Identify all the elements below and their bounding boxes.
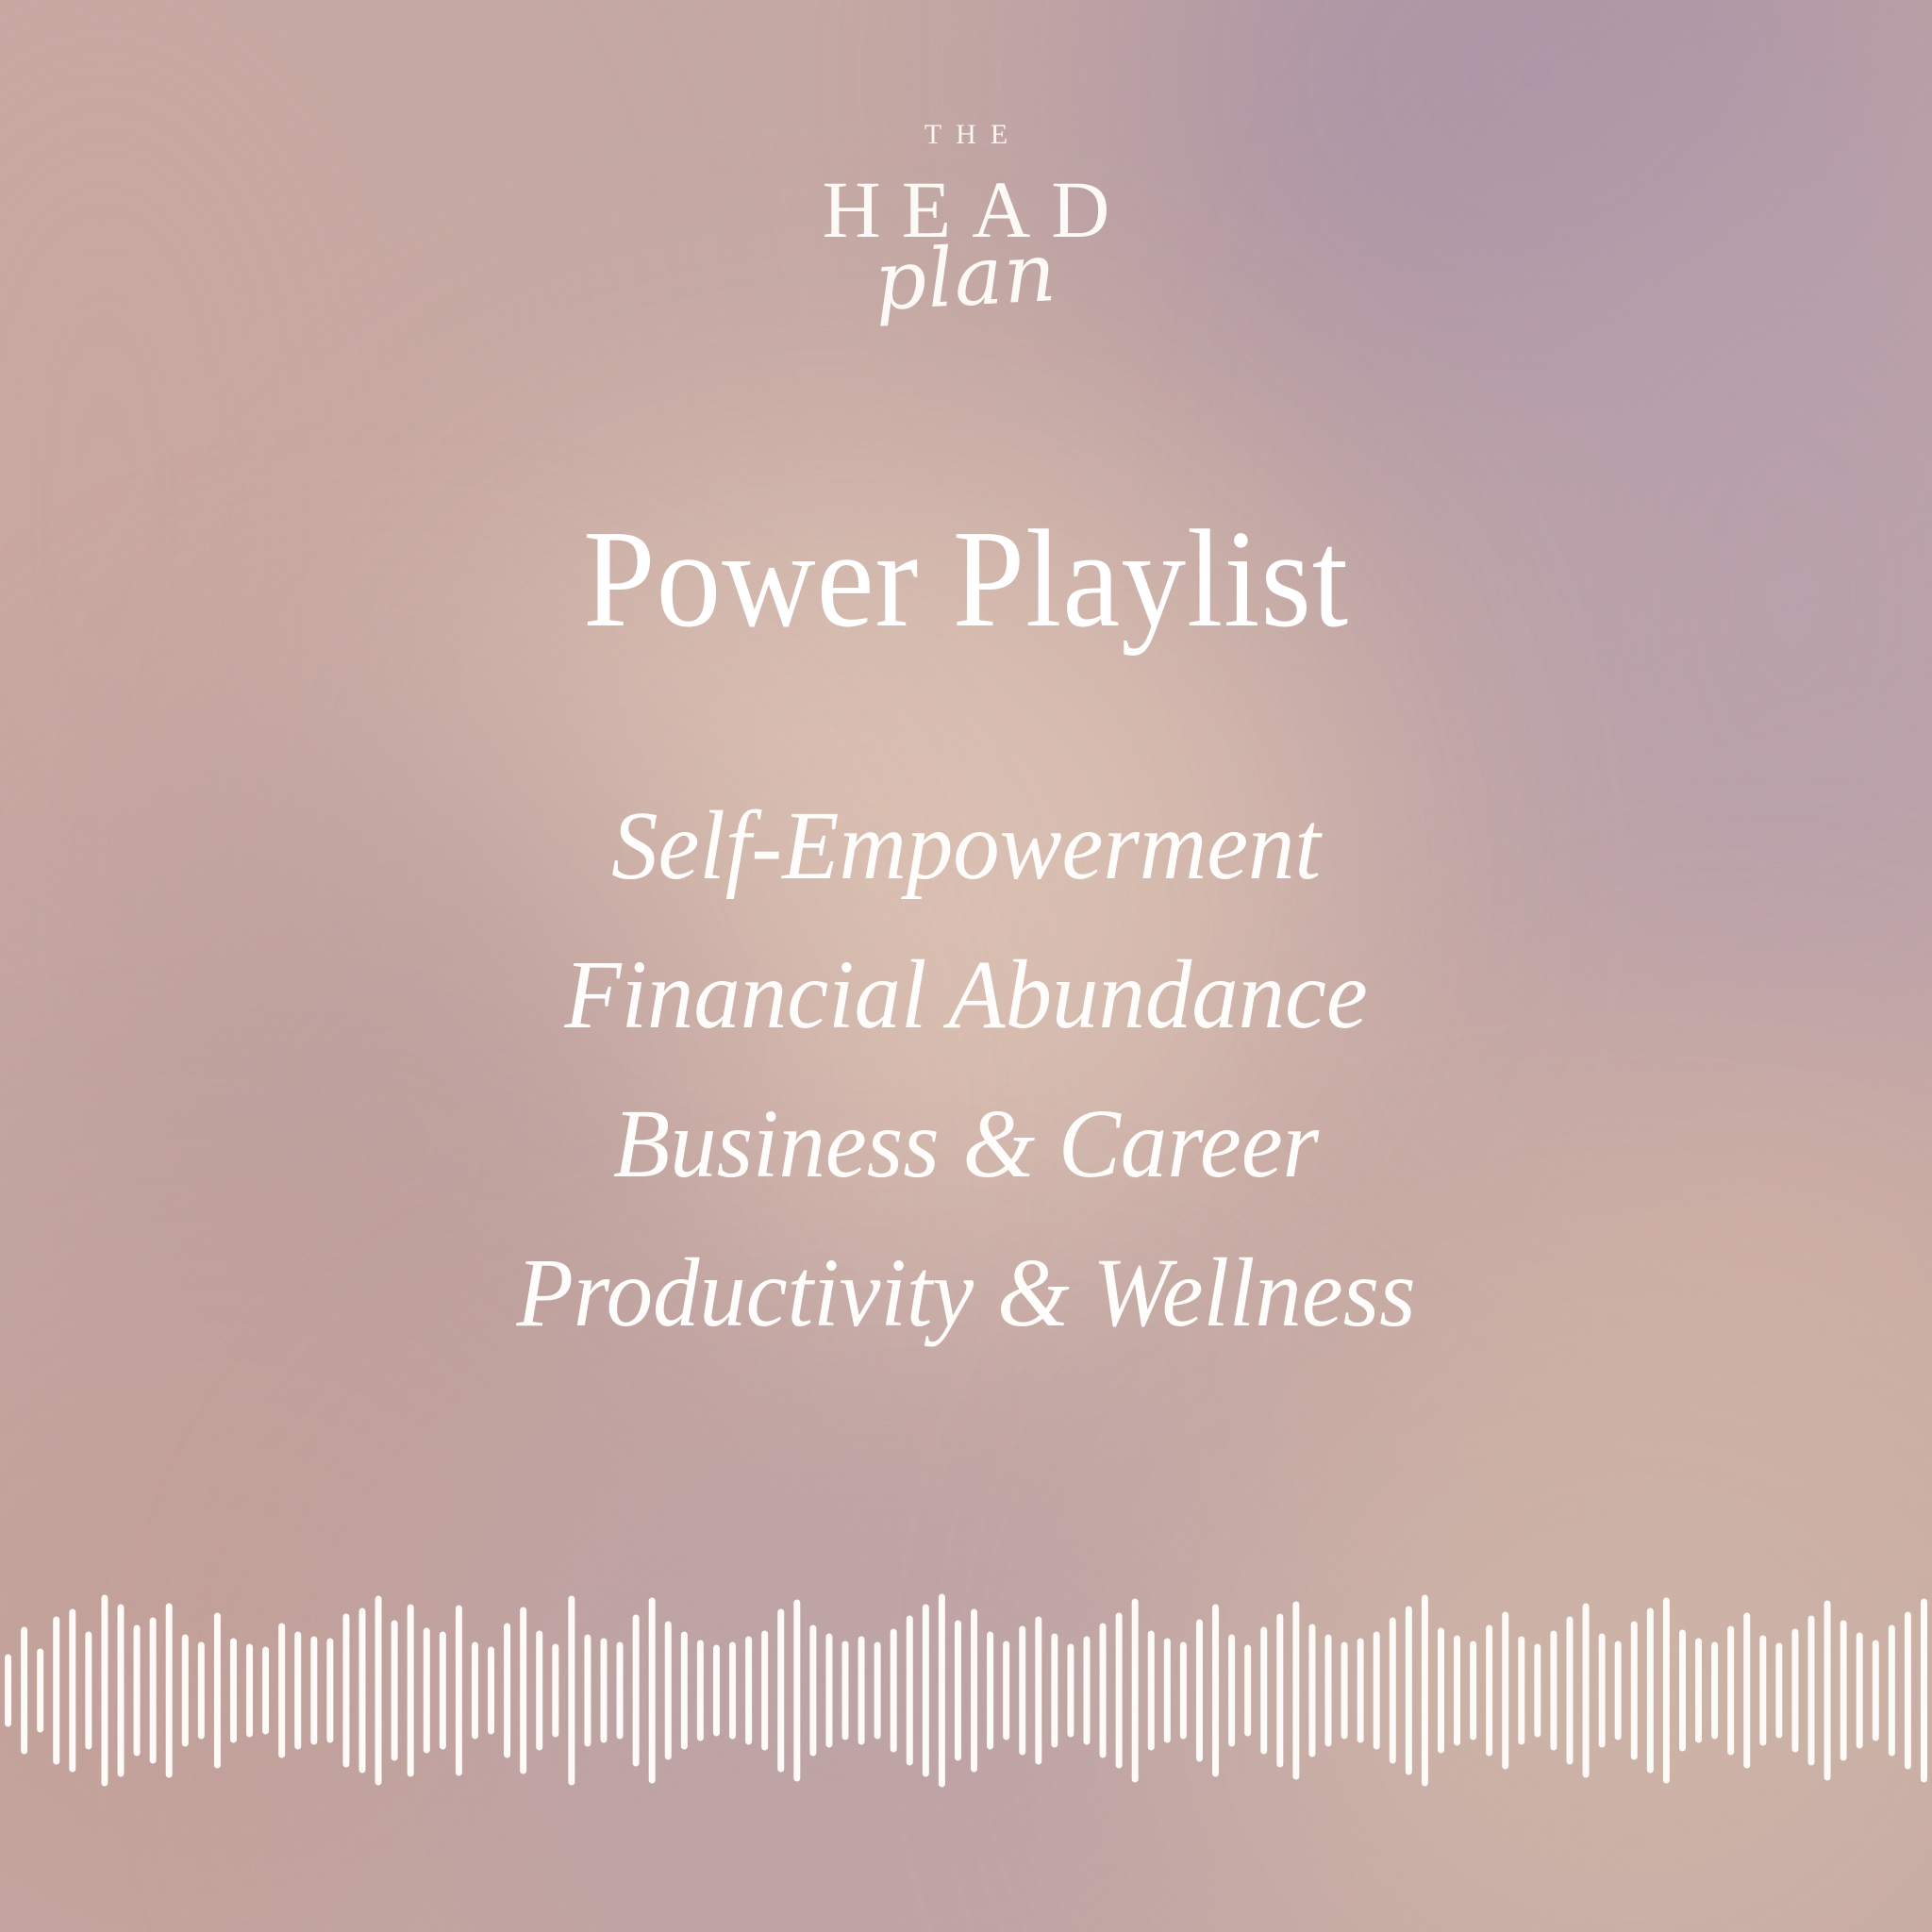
category-item-self-empowerment: Self-Empowerment	[48, 772, 1884, 921]
category-list: Self-Empowerment Financial Abundance Bus…	[0, 772, 1932, 1368]
brand-logo: THE HEAD plan	[0, 121, 1932, 318]
category-item-business-career: Business & Career	[48, 1070, 1884, 1219]
logo-eyebrow-text: THE	[0, 121, 1932, 149]
waveform-svg	[0, 1502, 1932, 1879]
logo-script-word: plan	[873, 232, 1058, 323]
page-title: Power Playlist	[68, 509, 1865, 649]
audio-waveform-graphic	[0, 1502, 1932, 1879]
power-playlist-graphic: THE HEAD plan Power Playlist Self-Empowe…	[0, 0, 1932, 1932]
category-item-financial-abundance: Financial Abundance	[48, 921, 1884, 1070]
category-item-productivity-wellness: Productivity & Wellness	[48, 1219, 1884, 1368]
